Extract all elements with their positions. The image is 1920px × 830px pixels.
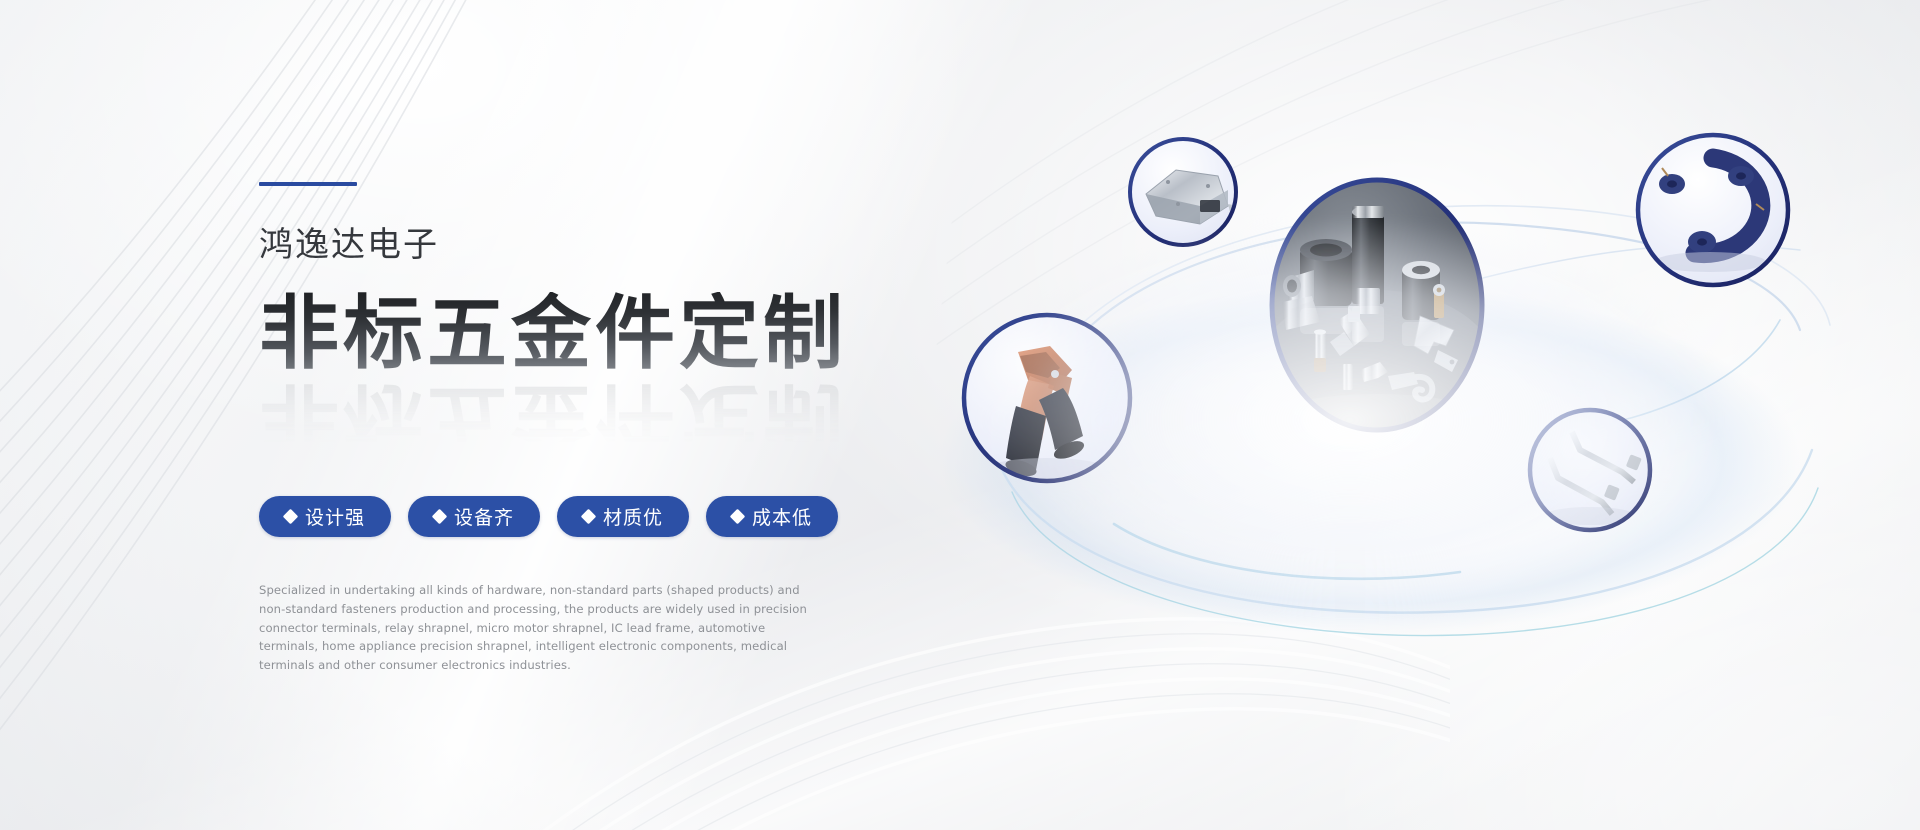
feature-pill-label: 设计强 (305, 503, 365, 530)
headline-reflection: 非标五金件定制 (259, 378, 847, 461)
feature-pill-material[interactable]: 材质优 (557, 496, 689, 537)
feature-pill-label: 成本低 (752, 503, 812, 530)
page-title: 非标五金件定制 (259, 292, 847, 375)
headline-wrapper: 非标五金件定制 非标五金件定制 (259, 292, 899, 440)
feature-pill-label: 材质优 (603, 503, 663, 530)
feature-pill-design[interactable]: 设计强 (259, 496, 391, 537)
hero-banner: 鸿逸达电子 非标五金件定制 非标五金件定制 设计强 设备齐 材质优 成本低 (0, 0, 1920, 830)
diamond-icon (581, 509, 597, 525)
hero-copy: 鸿逸达电子 非标五金件定制 非标五金件定制 设计强 设备齐 材质优 成本低 (259, 182, 899, 687)
brand-name: 鸿逸达电子 (259, 228, 899, 262)
diamond-icon (283, 509, 299, 525)
accent-rule (259, 182, 357, 186)
feature-pill-row: 设计强 设备齐 材质优 成本低 (259, 496, 899, 537)
diamond-icon (730, 509, 746, 525)
diamond-icon (432, 509, 448, 525)
feature-pill-cost[interactable]: 成本低 (706, 496, 838, 537)
description-paragraph: Specialized in undertaking all kinds of … (259, 581, 825, 675)
feature-pill-equipment[interactable]: 设备齐 (408, 496, 540, 537)
artwork-glow (980, 220, 1720, 620)
feature-pill-label: 设备齐 (454, 503, 514, 530)
product-artwork (900, 120, 1860, 680)
